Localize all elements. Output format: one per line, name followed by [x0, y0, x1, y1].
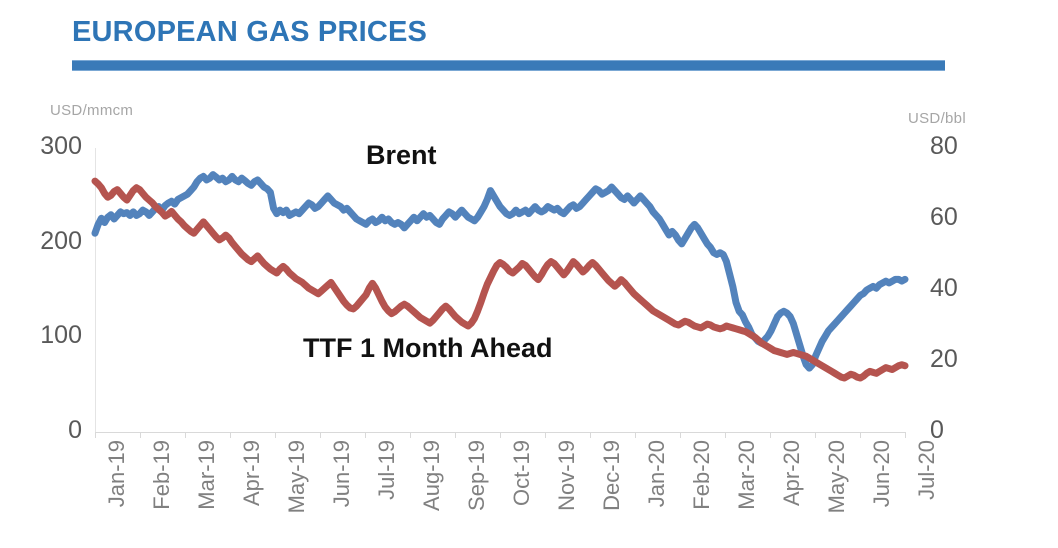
- axis-tick-mark: [545, 432, 546, 438]
- axis-tick-label: 0: [68, 416, 82, 445]
- axis-tick-label: 60: [930, 203, 958, 232]
- axis-tick-label: 20: [930, 345, 958, 374]
- axis-tick-label: Jun-20: [869, 440, 895, 507]
- axis-tick-label: Feb-19: [149, 440, 175, 510]
- series-annotation-brent: Brent: [366, 140, 437, 171]
- axis-tick-label: Mar-19: [194, 440, 220, 510]
- axis-tick-label: Aug-19: [419, 440, 445, 511]
- axis-tick-label: Jul-19: [374, 440, 400, 500]
- axis-tick-label: 100: [40, 321, 82, 350]
- axis-tick-mark: [905, 432, 906, 438]
- chart-page: EUROPEAN GAS PRICES USD/mmcm USD/bbl 300…: [0, 0, 1058, 548]
- axis-tick-mark: [230, 432, 231, 438]
- axis-tick-label: Oct-19: [509, 440, 535, 506]
- axis-tick-label: 200: [40, 227, 82, 256]
- axis-tick-label: Nov-19: [554, 440, 580, 511]
- left-axis-unit-label: USD/mmcm: [50, 102, 133, 119]
- axis-tick-mark: [680, 432, 681, 438]
- axis-tick-mark: [635, 432, 636, 438]
- axis-tick-mark: [590, 432, 591, 438]
- page-title: EUROPEAN GAS PRICES: [72, 14, 952, 50]
- axis-tick-mark: [320, 432, 321, 438]
- axis-tick-mark: [365, 432, 366, 438]
- axis-tick-label: Apr-20: [779, 440, 805, 506]
- axis-tick-label: Jan-19: [104, 440, 130, 507]
- axis-tick-label: Dec-19: [599, 440, 625, 511]
- axis-tick-mark: [95, 432, 96, 438]
- axis-tick-label: May-19: [284, 440, 310, 513]
- title-underline-rule: [72, 60, 945, 71]
- axis-tick-label: Sep-19: [464, 440, 490, 511]
- axis-tick-mark: [770, 432, 771, 438]
- axis-tick-label: 300: [40, 132, 82, 161]
- axis-tick-label: Jan-20: [644, 440, 670, 507]
- axis-tick-mark: [140, 432, 141, 438]
- axis-tick-mark: [860, 432, 861, 438]
- axis-tick-label: Jun-19: [329, 440, 355, 507]
- left-axis-tick-labels: 3002001000: [10, 148, 82, 432]
- axis-tick-mark: [275, 432, 276, 438]
- axis-tick-mark: [410, 432, 411, 438]
- title-block: EUROPEAN GAS PRICES: [72, 14, 952, 71]
- x-axis-tick-labels: Jan-19Feb-19Mar-19Apr-19May-19Jun-19Jul-…: [95, 440, 905, 540]
- series-annotation-ttf: TTF 1 Month Ahead: [303, 333, 552, 364]
- right-axis-tick-labels: 806040200: [930, 148, 1000, 432]
- axis-tick-label: Mar-20: [734, 440, 760, 510]
- axis-tick-label: Feb-20: [689, 440, 715, 510]
- axis-tick-label: 40: [930, 274, 958, 303]
- axis-tick-mark: [185, 432, 186, 438]
- axis-tick-mark: [455, 432, 456, 438]
- series-canvas: [95, 148, 905, 432]
- axis-tick-label: Jul-20: [914, 440, 940, 500]
- axis-tick-mark: [815, 432, 816, 438]
- axis-tick-label: Apr-19: [239, 440, 265, 506]
- axis-tick-label: May-20: [824, 440, 850, 513]
- axis-tick-mark: [500, 432, 501, 438]
- axis-tick-label: 80: [930, 132, 958, 161]
- axis-tick-mark: [725, 432, 726, 438]
- right-axis-unit-label: USD/bbl: [908, 110, 966, 127]
- plot-area: [95, 148, 905, 432]
